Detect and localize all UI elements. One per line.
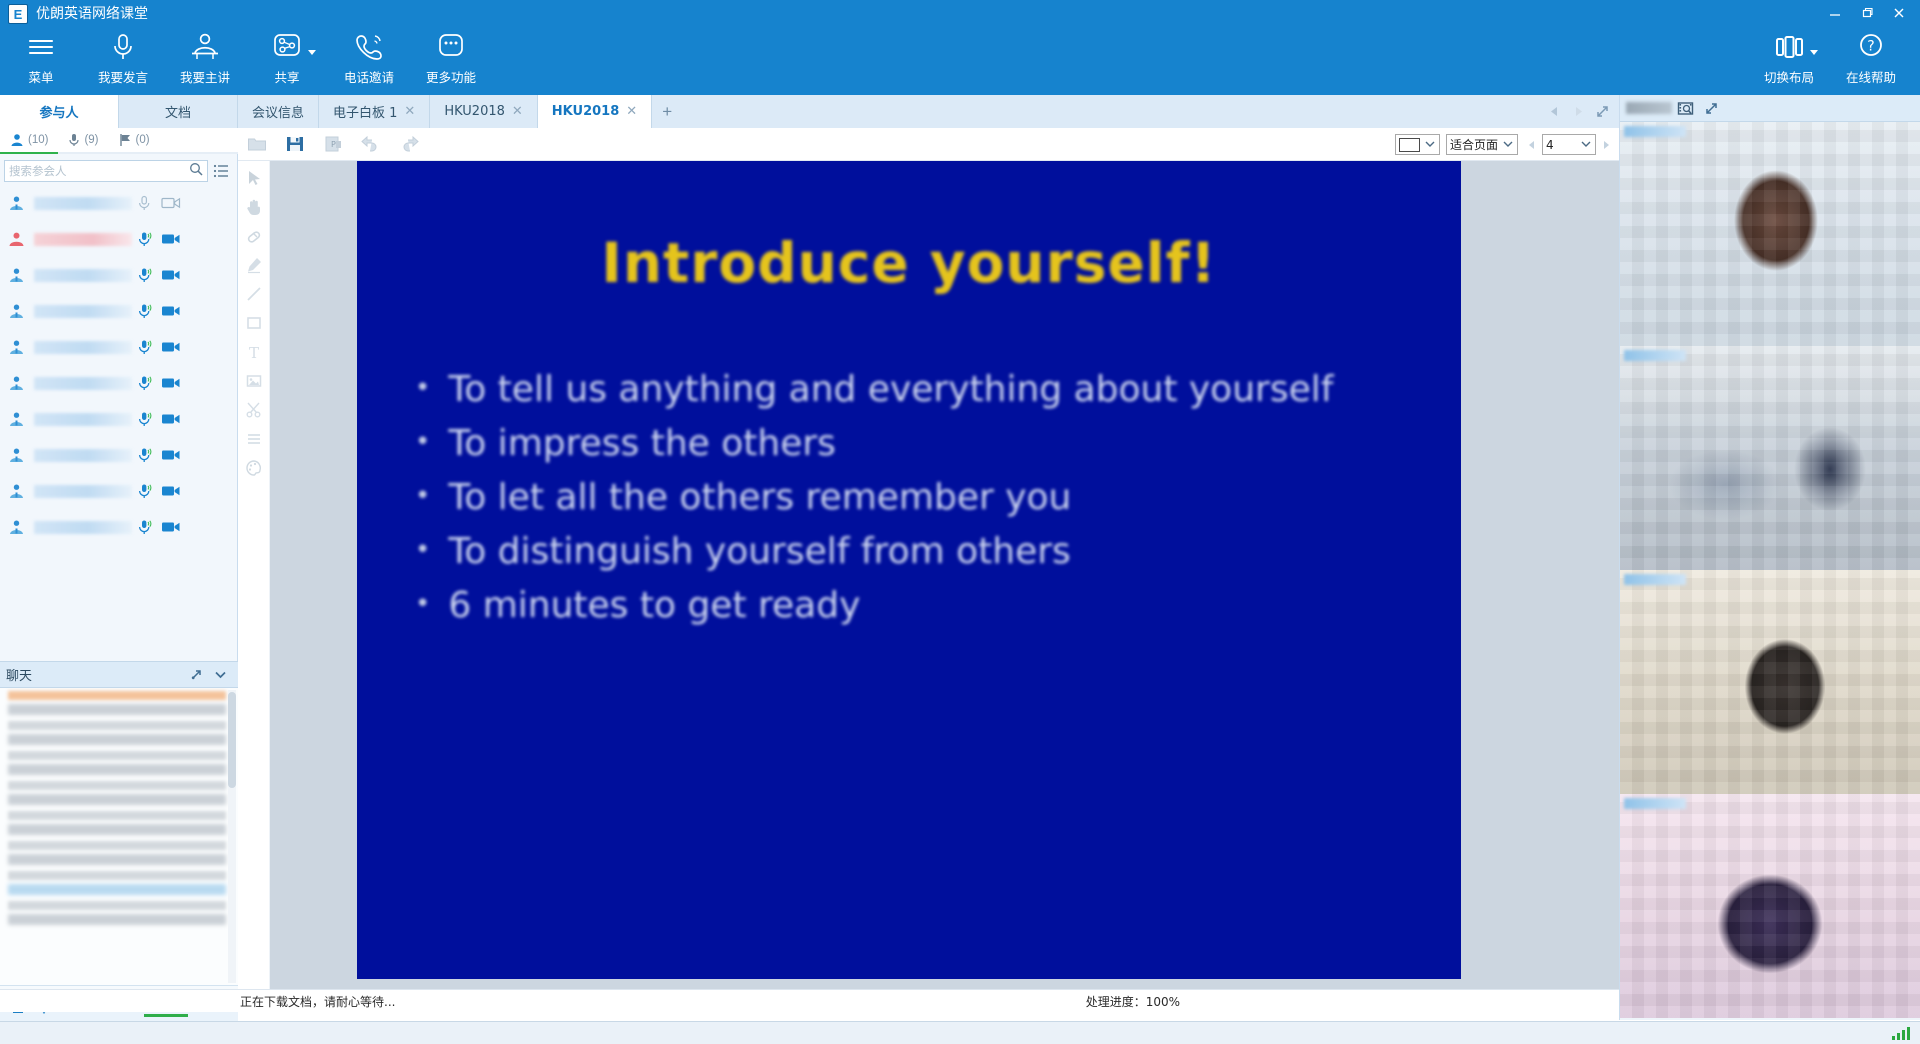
microphone-icon bbox=[110, 28, 136, 66]
video-stream bbox=[1620, 794, 1920, 1018]
phone-invite-icon bbox=[354, 28, 384, 66]
tab-label: HKU2018 bbox=[444, 104, 505, 119]
bullet-text: To impress the others bbox=[448, 420, 1421, 468]
video-tile[interactable] bbox=[1620, 570, 1920, 794]
slide-bullet: •To distinguish yourself from others bbox=[415, 528, 1421, 576]
chat-message bbox=[0, 808, 238, 838]
toolbar-label: 我要发言 bbox=[98, 67, 148, 86]
bullet-text: To let all the others remember you bbox=[448, 474, 1421, 522]
participant-name bbox=[34, 233, 132, 246]
participant-name bbox=[34, 413, 132, 426]
participant-row[interactable] bbox=[0, 509, 238, 545]
line-icon[interactable] bbox=[241, 283, 267, 305]
camera-icon[interactable] bbox=[158, 448, 184, 462]
search-icon[interactable] bbox=[189, 162, 203, 181]
chat-message-body bbox=[8, 884, 226, 895]
microphone-icon[interactable] bbox=[132, 447, 158, 464]
taskbar bbox=[0, 1021, 1920, 1044]
slide-canvas[interactable]: Introduce yourself! •To tell us anything… bbox=[270, 161, 1620, 989]
pointer-select-icon[interactable] bbox=[241, 167, 267, 189]
participant-avatar-icon bbox=[6, 267, 26, 284]
microphone-icon[interactable] bbox=[132, 267, 158, 284]
application-window: E 优朗英语网络课堂 菜单 bbox=[0, 0, 1920, 1044]
active-tab-indicator bbox=[0, 152, 58, 154]
toolbar-label: 电话邀请 bbox=[344, 67, 394, 86]
chevron-down-icon bbox=[1424, 138, 1436, 152]
layout-switch-icon bbox=[1771, 28, 1807, 66]
toolbar-item-share[interactable]: 共享 bbox=[246, 24, 328, 92]
video-tile[interactable] bbox=[1620, 794, 1920, 1018]
video-stream bbox=[1620, 570, 1920, 794]
bullet-glyph: • bbox=[415, 420, 430, 464]
video-participant-name bbox=[1624, 574, 1686, 585]
toolbar-item-menu[interactable]: 菜单 bbox=[0, 24, 82, 92]
status-message: 正在下载文档，请耐心等待... bbox=[240, 993, 395, 1010]
document-view-controls: 适合页面 4 bbox=[1395, 128, 1614, 161]
close-tab-icon[interactable]: ✕ bbox=[404, 104, 415, 119]
participant-name bbox=[34, 377, 132, 390]
chat-message-body bbox=[8, 824, 226, 835]
toolbar-item-phone-invite[interactable]: 电话邀请 bbox=[328, 24, 410, 92]
host-avatar-icon bbox=[6, 231, 26, 248]
toolbar-right-group: 切换布局 ? 在线帮助 bbox=[1748, 24, 1912, 92]
video-panel bbox=[1620, 95, 1920, 1020]
video-settings-icon[interactable] bbox=[1672, 100, 1698, 117]
toolbar-item-more[interactable]: 更多功能 bbox=[410, 24, 492, 92]
toolbar-label: 菜单 bbox=[28, 67, 53, 86]
document-tabstrip: 会议信息电子白板 1✕HKU2018✕HKU2018✕+ bbox=[238, 95, 1620, 128]
slide-bullet: •To let all the others remember you bbox=[415, 474, 1421, 522]
add-tab-button[interactable]: + bbox=[652, 95, 682, 128]
page-navigation: 4 bbox=[1524, 134, 1614, 155]
participant-avatar-icon bbox=[6, 411, 26, 428]
svg-text:P: P bbox=[331, 140, 336, 149]
microphone-icon[interactable] bbox=[132, 519, 158, 536]
chat-message bbox=[0, 838, 238, 868]
toolbar-item-online-help[interactable]: ? 在线帮助 bbox=[1830, 24, 1912, 92]
camera-icon[interactable] bbox=[158, 484, 184, 498]
volume-level-meter bbox=[144, 1014, 188, 1017]
chat-message bbox=[0, 898, 238, 928]
prev-page-icon[interactable] bbox=[1524, 139, 1540, 151]
help-circle-icon: ? bbox=[1856, 28, 1886, 66]
zoom-value: 适合页面 bbox=[1450, 136, 1498, 153]
camera-icon[interactable] bbox=[158, 412, 184, 426]
export-ppt-icon[interactable]: P bbox=[314, 128, 352, 161]
chat-message-meta bbox=[8, 841, 226, 850]
chat-message-meta bbox=[8, 751, 226, 760]
video-tile-list bbox=[1620, 122, 1920, 1018]
document-tab[interactable]: 会议信息 bbox=[238, 95, 319, 128]
microphone-icon[interactable] bbox=[132, 411, 158, 428]
participant-row[interactable] bbox=[0, 293, 238, 329]
count-value: (0) bbox=[136, 134, 150, 146]
chat-message bbox=[0, 718, 238, 748]
microphone-icon[interactable] bbox=[132, 195, 158, 212]
camera-icon[interactable] bbox=[158, 340, 184, 354]
participant-name bbox=[34, 521, 132, 534]
count-value: (10) bbox=[28, 134, 48, 146]
svg-text:?: ? bbox=[1867, 39, 1874, 55]
scissors-cut-icon[interactable] bbox=[241, 399, 267, 421]
participant-name bbox=[34, 197, 132, 210]
participant-avatar-icon bbox=[6, 339, 26, 356]
participant-search-row bbox=[0, 157, 238, 185]
tab-label: 电子白板 1 bbox=[333, 102, 397, 121]
expand-fullscreen-icon[interactable] bbox=[1592, 100, 1612, 124]
count-value: (9) bbox=[84, 134, 98, 146]
document-area: 会议信息电子白板 1✕HKU2018✕HKU2018✕+ P bbox=[238, 95, 1620, 989]
tab-navigation bbox=[1544, 95, 1612, 128]
color-palette-icon[interactable] bbox=[241, 457, 267, 479]
chevron-down-icon bbox=[1580, 138, 1592, 152]
main-toolbar: 菜单 我要发言 我要主讲 共享 bbox=[0, 24, 492, 92]
status-bar: 正在下载文档，请耐心等待... 处理进度：100% bbox=[0, 989, 1620, 1012]
hamburger-menu-icon bbox=[26, 28, 56, 66]
chat-message bbox=[0, 688, 238, 718]
chat-message-body bbox=[8, 794, 226, 805]
window-controls bbox=[1820, 2, 1914, 24]
color-swatch bbox=[1399, 138, 1420, 152]
chevron-down-icon[interactable] bbox=[208, 667, 232, 682]
chat-title: 聊天 bbox=[6, 665, 184, 684]
participant-avatar-icon bbox=[6, 519, 26, 536]
chat-scrollbar[interactable] bbox=[228, 690, 236, 983]
toolbar-item-speak[interactable]: 我要发言 bbox=[82, 24, 164, 92]
chat-header: 聊天 bbox=[0, 661, 238, 688]
popout-arrow-icon[interactable] bbox=[184, 667, 208, 682]
next-tab-icon[interactable] bbox=[1568, 100, 1588, 124]
scrollbar-thumb[interactable] bbox=[228, 692, 236, 788]
close-tab-icon[interactable]: ✕ bbox=[626, 104, 637, 119]
participant-row[interactable] bbox=[0, 437, 238, 473]
video-tile[interactable] bbox=[1620, 122, 1920, 346]
slide-title: Introduce yourself! bbox=[357, 231, 1461, 295]
microphone-icon[interactable] bbox=[132, 483, 158, 500]
presenter-icon bbox=[188, 28, 222, 66]
chat-message-body bbox=[8, 734, 226, 745]
video-participant-name bbox=[1624, 126, 1686, 137]
eraser-icon[interactable] bbox=[241, 225, 267, 247]
participant-name bbox=[34, 449, 132, 462]
camera-icon[interactable] bbox=[158, 268, 184, 282]
shape-color-select[interactable] bbox=[1395, 134, 1440, 155]
toolbar-label: 我要主讲 bbox=[180, 67, 230, 86]
left-sidebar: 参与人 文档 (10) (9) (0) bbox=[0, 95, 238, 989]
participant-row[interactable] bbox=[0, 365, 238, 401]
prev-tab-icon[interactable] bbox=[1544, 100, 1564, 124]
image-icon[interactable] bbox=[241, 370, 267, 392]
chat-message-body bbox=[8, 854, 226, 865]
bullet-text: To tell us anything and everything about… bbox=[448, 366, 1421, 414]
annotation-tool-rail: T bbox=[238, 161, 270, 989]
share-nodes-icon bbox=[271, 28, 303, 66]
toolbar-label: 切换布局 bbox=[1764, 67, 1814, 86]
title-toolbar: E 优朗英语网络课堂 菜单 bbox=[0, 0, 1920, 95]
flag-icon bbox=[119, 133, 132, 147]
participant-row[interactable] bbox=[0, 401, 238, 437]
participant-list[interactable] bbox=[0, 185, 238, 661]
video-stream bbox=[1620, 346, 1920, 570]
tab-participants[interactable]: 参与人 bbox=[0, 95, 119, 128]
chat-message-body bbox=[8, 704, 226, 715]
toolbar-label: 更多功能 bbox=[426, 67, 476, 86]
maximize-button[interactable] bbox=[1852, 2, 1882, 24]
participant-avatar-icon bbox=[6, 375, 26, 392]
slide-bullet-list: •To tell us anything and everything abou… bbox=[415, 366, 1421, 635]
chat-message-meta bbox=[8, 781, 226, 790]
tab-documents[interactable]: 文档 bbox=[119, 95, 238, 128]
microphone-icon[interactable] bbox=[132, 303, 158, 320]
zoom-select[interactable]: 适合页面 bbox=[1446, 134, 1518, 155]
tab-label: 会议信息 bbox=[252, 102, 304, 121]
microphone-icon bbox=[68, 133, 80, 147]
minimize-button[interactable] bbox=[1820, 2, 1850, 24]
text-icon[interactable]: T bbox=[241, 341, 267, 363]
camera-icon[interactable] bbox=[158, 304, 184, 318]
toolbar-item-present[interactable]: 我要主讲 bbox=[164, 24, 246, 92]
progress-text: 处理进度：100% bbox=[1086, 993, 1180, 1010]
toolbar-item-switch-layout[interactable]: 切换布局 bbox=[1748, 24, 1830, 92]
video-tile[interactable] bbox=[1620, 346, 1920, 570]
microphone-icon[interactable] bbox=[132, 339, 158, 356]
document-tab[interactable]: 电子白板 1✕ bbox=[319, 95, 430, 128]
bullet-text: To distinguish yourself from others bbox=[448, 528, 1421, 576]
close-tab-icon[interactable]: ✕ bbox=[512, 104, 523, 119]
slide-bullet: •To tell us anything and everything abou… bbox=[415, 366, 1421, 414]
chat-message-meta bbox=[8, 721, 226, 730]
participant-row[interactable] bbox=[0, 257, 238, 293]
next-page-icon[interactable] bbox=[1598, 139, 1614, 151]
participant-avatar-icon bbox=[6, 483, 26, 500]
bullet-text: 6 minutes to get ready bbox=[448, 582, 1421, 630]
person-icon bbox=[10, 133, 24, 147]
count-raised-hands[interactable]: (0) bbox=[109, 133, 160, 147]
camera-icon[interactable] bbox=[158, 376, 184, 390]
signal-strength-icon bbox=[1892, 1027, 1910, 1040]
microphone-icon[interactable] bbox=[132, 231, 158, 248]
toolbar-label: 共享 bbox=[274, 67, 299, 86]
redo-icon[interactable] bbox=[390, 128, 428, 161]
chat-message-log[interactable] bbox=[0, 688, 238, 985]
participant-row[interactable] bbox=[0, 221, 238, 257]
highlighter-icon[interactable] bbox=[241, 254, 267, 276]
tab-label: HKU2018 bbox=[552, 104, 619, 119]
video-panel-header bbox=[1620, 95, 1920, 122]
chat-message-meta bbox=[8, 871, 226, 880]
slide-bullet: •6 minutes to get ready bbox=[415, 582, 1421, 630]
document-toolbar: P 适合页面 bbox=[238, 128, 1620, 161]
chat-message-meta bbox=[8, 901, 226, 910]
sidebar-tabstrip: 参与人 文档 bbox=[0, 95, 238, 128]
page-value: 4 bbox=[1546, 138, 1554, 152]
chat-message bbox=[0, 868, 238, 898]
video-stream bbox=[1620, 122, 1920, 346]
chat-message bbox=[0, 748, 238, 778]
rectangle-icon[interactable] bbox=[241, 312, 267, 334]
chat-message-meta bbox=[8, 811, 226, 820]
participant-name bbox=[34, 269, 132, 282]
open-folder-icon[interactable] bbox=[238, 128, 276, 161]
chevron-down-icon bbox=[308, 50, 316, 55]
chevron-down-icon bbox=[1810, 50, 1818, 55]
participant-counts-bar: (10) (9) (0) bbox=[0, 128, 238, 154]
chat-message-meta bbox=[8, 691, 226, 700]
chat-message-body bbox=[8, 914, 226, 925]
bullet-glyph: • bbox=[415, 582, 430, 626]
more-functions-icon bbox=[435, 28, 467, 66]
camera-icon[interactable] bbox=[158, 520, 184, 534]
participant-row[interactable] bbox=[0, 329, 238, 365]
search-box[interactable] bbox=[4, 160, 208, 182]
camera-icon[interactable] bbox=[158, 232, 184, 246]
toolbar-label: 在线帮助 bbox=[1846, 67, 1896, 86]
participant-row[interactable] bbox=[0, 473, 238, 509]
bullet-glyph: • bbox=[415, 474, 430, 518]
hand-pan-icon[interactable] bbox=[241, 196, 267, 218]
presentation-slide[interactable]: Introduce yourself! •To tell us anything… bbox=[357, 161, 1461, 979]
document-tab[interactable]: HKU2018✕ bbox=[538, 95, 652, 128]
slide-bullet: •To impress the others bbox=[415, 420, 1421, 468]
camera-icon[interactable] bbox=[158, 196, 184, 210]
count-participants[interactable]: (10) bbox=[0, 133, 58, 147]
participant-name bbox=[34, 341, 132, 354]
list-view-icon[interactable] bbox=[208, 164, 234, 178]
lines-list-icon[interactable] bbox=[241, 428, 267, 450]
participant-row[interactable] bbox=[0, 185, 238, 221]
video-participant-name bbox=[1624, 798, 1686, 809]
participant-avatar-icon bbox=[6, 447, 26, 464]
app-logo-icon: E bbox=[8, 4, 28, 24]
app-title: 优朗英语网络课堂 bbox=[36, 4, 148, 24]
participant-name bbox=[34, 485, 132, 498]
bullet-glyph: • bbox=[415, 528, 430, 572]
participant-avatar-icon bbox=[6, 195, 26, 212]
undo-icon[interactable] bbox=[352, 128, 390, 161]
microphone-icon[interactable] bbox=[132, 375, 158, 392]
chevron-down-icon bbox=[1502, 138, 1514, 152]
search-input[interactable] bbox=[9, 164, 189, 178]
video-panel-title bbox=[1626, 102, 1672, 114]
bullet-glyph: • bbox=[415, 366, 430, 410]
chat-message bbox=[0, 778, 238, 808]
save-icon[interactable] bbox=[276, 128, 314, 161]
participant-name bbox=[34, 305, 132, 318]
count-microphones[interactable]: (9) bbox=[58, 133, 108, 147]
video-participant-name bbox=[1624, 350, 1686, 361]
svg-text:T: T bbox=[248, 344, 258, 361]
page-select[interactable]: 4 bbox=[1542, 134, 1596, 155]
chat-message-body bbox=[8, 764, 226, 775]
document-tab[interactable]: HKU2018✕ bbox=[430, 95, 537, 128]
expand-arrows-icon[interactable] bbox=[1698, 101, 1724, 116]
close-button[interactable] bbox=[1884, 2, 1914, 24]
participant-avatar-icon bbox=[6, 303, 26, 320]
